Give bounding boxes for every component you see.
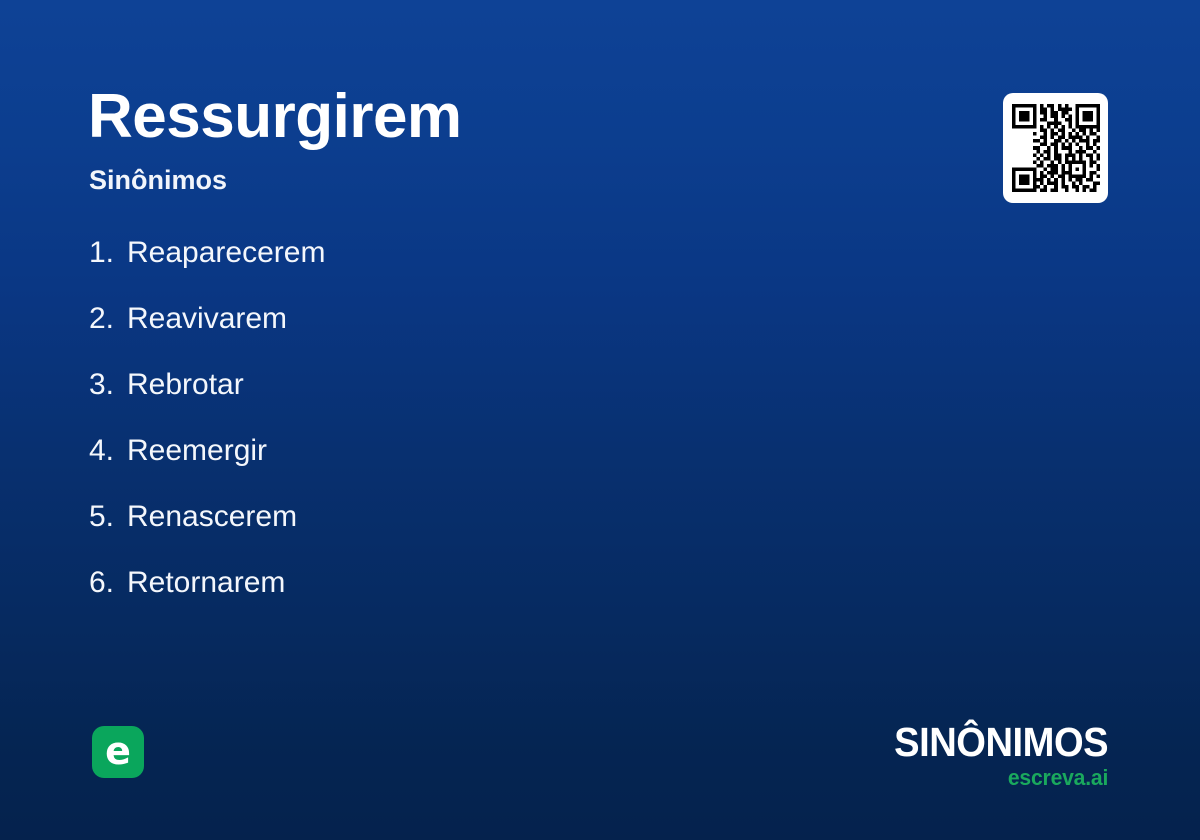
- page-subtitle: Sinônimos: [89, 167, 227, 194]
- wordmark-domain: escreva.ai: [887, 767, 1108, 789]
- synonym-card: Ressurgirem Sinônimos 1. Reaparecerem 2.…: [0, 0, 1200, 840]
- list-item: 5. Renascerem: [89, 502, 789, 538]
- wordmark-title: SINÔNIMOS: [894, 722, 1108, 763]
- list-item-word: Retornarem: [127, 568, 285, 598]
- list-item: 6. Retornarem: [89, 568, 789, 604]
- list-item-word: Rebrotar: [127, 370, 244, 400]
- synonym-list: 1. Reaparecerem 2. Reavivarem 3. Rebrota…: [89, 238, 789, 634]
- list-item: 2. Reavivarem: [89, 304, 789, 340]
- list-item-word: Reemergir: [127, 436, 267, 466]
- list-item-word: Reavivarem: [127, 304, 287, 334]
- list-item-index: 2.: [89, 304, 127, 334]
- list-item-index: 6.: [89, 568, 127, 598]
- list-item-index: 3.: [89, 370, 127, 400]
- qr-code[interactable]: [1003, 93, 1108, 203]
- list-item: 3. Rebrotar: [89, 370, 789, 406]
- qr-code-icon: [1012, 104, 1100, 192]
- list-item-index: 4.: [89, 436, 127, 466]
- list-item-index: 1.: [89, 238, 127, 268]
- escreva-logo-badge[interactable]: e: [92, 726, 144, 778]
- list-item-word: Reaparecerem: [127, 238, 325, 268]
- list-item: 4. Reemergir: [89, 436, 789, 472]
- escreva-e-logo-icon: e: [105, 732, 131, 770]
- list-item-index: 5.: [89, 502, 127, 532]
- sinonimos-wordmark[interactable]: SINÔNIMOS escreva.ai: [878, 722, 1108, 789]
- list-item: 1. Reaparecerem: [89, 238, 789, 274]
- list-item-word: Renascerem: [127, 502, 297, 532]
- page-title: Ressurgirem: [88, 86, 462, 148]
